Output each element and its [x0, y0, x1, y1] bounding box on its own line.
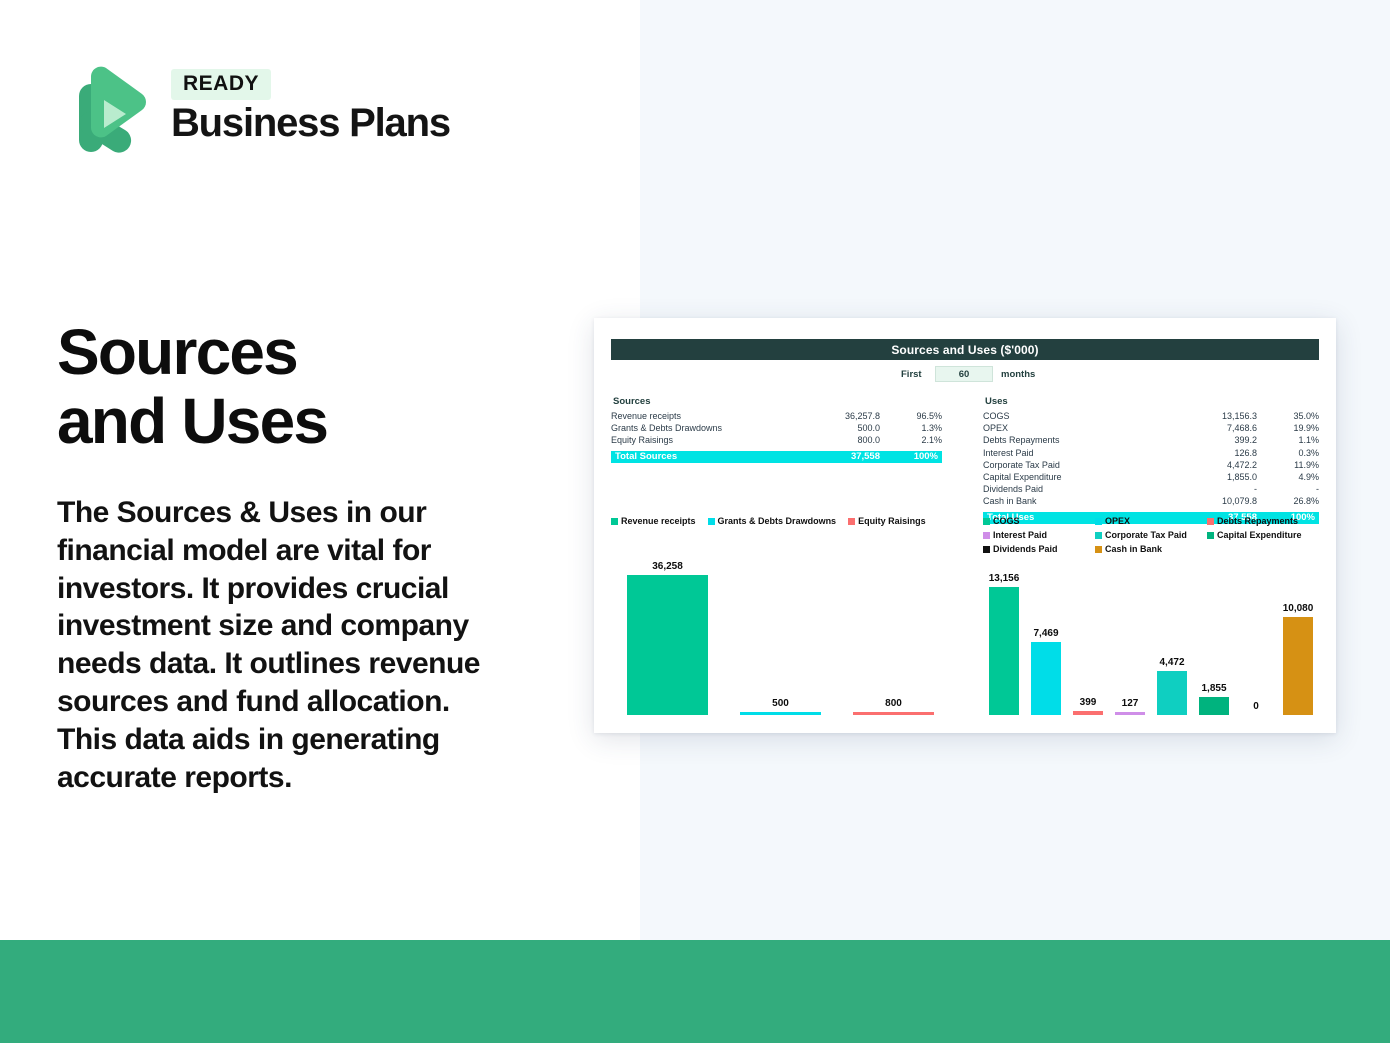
- bar[interactable]: [1283, 617, 1313, 715]
- row-label: COGS: [983, 410, 1171, 422]
- legend-swatch-icon: [1207, 518, 1214, 525]
- bar[interactable]: [1157, 671, 1187, 715]
- table-row: Revenue receipts36,257.896.5%: [611, 410, 942, 422]
- table-row: Equity Raisings800.02.1%: [611, 434, 942, 446]
- legend-item[interactable]: Capital Expenditure: [1207, 530, 1319, 540]
- row-label: Grants & Debts Drawdowns: [611, 422, 794, 434]
- sources-chart-legend: Revenue receiptsGrants & Debts Drawdowns…: [611, 516, 951, 526]
- page-description: The Sources & Uses in our financial mode…: [57, 494, 502, 796]
- row-percent: 0.3%: [1257, 447, 1319, 459]
- row-label: Equity Raisings: [611, 434, 794, 446]
- uses-table: COGS13,156.335.0%OPEX7,468.619.9%Debts R…: [983, 410, 1319, 508]
- row-value: 1,855.0: [1171, 471, 1257, 483]
- row-percent: 19.9%: [1257, 422, 1319, 434]
- bar-column: 127: [1109, 550, 1151, 715]
- total-sources-pct: 100%: [880, 451, 942, 462]
- bar-value-label: 399: [1080, 697, 1097, 708]
- bar[interactable]: [989, 587, 1019, 715]
- table-row: Interest Paid126.80.3%: [983, 447, 1319, 459]
- bar[interactable]: [1199, 697, 1229, 715]
- brand-badge: READY: [171, 69, 271, 100]
- table-row: OPEX7,468.619.9%: [983, 422, 1319, 434]
- bar-column: 399: [1067, 550, 1109, 715]
- sources-table: Revenue receipts36,257.896.5%Grants & De…: [611, 410, 942, 447]
- table-row: Capital Expenditure1,855.04.9%: [983, 471, 1319, 483]
- bar[interactable]: [627, 575, 708, 715]
- bottom-accent-bar: [0, 940, 1390, 1043]
- bar-column: 800: [837, 550, 950, 715]
- bar[interactable]: [1031, 642, 1061, 715]
- row-label: OPEX: [983, 422, 1171, 434]
- legend-item[interactable]: Corporate Tax Paid: [1095, 530, 1207, 540]
- row-label: Cash in Bank: [983, 495, 1171, 507]
- sources-and-uses-report-card: Sources and Uses ($'000) First 60 months…: [594, 318, 1336, 733]
- bar-value-label: 7,469: [1033, 628, 1058, 639]
- row-value: 10,079.8: [1171, 495, 1257, 507]
- legend-label: Corporate Tax Paid: [1105, 530, 1187, 540]
- bar[interactable]: [1073, 711, 1103, 715]
- row-percent: 4.9%: [1257, 471, 1319, 483]
- period-months-input[interactable]: 60: [935, 366, 993, 382]
- legend-swatch-icon: [1095, 518, 1102, 525]
- page-title: Sources and Uses: [57, 318, 327, 456]
- total-sources-label: Total Sources: [611, 451, 794, 462]
- row-label: Capital Expenditure: [983, 471, 1171, 483]
- legend-item[interactable]: Revenue receipts: [611, 516, 696, 526]
- legend-swatch-icon: [983, 518, 990, 525]
- slide-canvas: READY Business Plans Sources and Uses Th…: [0, 0, 1390, 1043]
- uses-chart-legend: COGSOPEXDebts RepaymentsInterest PaidCor…: [983, 516, 1319, 554]
- row-label: Debts Repayments: [983, 434, 1171, 446]
- row-percent: 35.0%: [1257, 410, 1319, 422]
- legend-label: Capital Expenditure: [1217, 530, 1302, 540]
- bar[interactable]: [1115, 712, 1145, 715]
- row-percent: 1.3%: [880, 422, 942, 434]
- legend-label: OPEX: [1105, 516, 1130, 526]
- bar-column: 1,855: [1193, 550, 1235, 715]
- bar-column: 7,469: [1025, 550, 1067, 715]
- play-triangle-logo-icon: [57, 58, 153, 154]
- legend-label: Grants & Debts Drawdowns: [718, 516, 837, 526]
- row-value: 126.8: [1171, 447, 1257, 459]
- bar-value-label: 4,472: [1159, 657, 1184, 668]
- table-row: COGS13,156.335.0%: [983, 410, 1319, 422]
- bar-column: 4,472: [1151, 550, 1193, 715]
- row-value: 36,257.8: [794, 410, 880, 422]
- bar[interactable]: [740, 712, 821, 715]
- legend-item[interactable]: COGS: [983, 516, 1095, 526]
- uses-pane: Uses COGS13,156.335.0%OPEX7,468.619.9%De…: [983, 396, 1319, 524]
- legend-label: Interest Paid: [993, 530, 1047, 540]
- row-label: Revenue receipts: [611, 410, 794, 422]
- legend-item[interactable]: Equity Raisings: [848, 516, 926, 526]
- legend-label: COGS: [993, 516, 1020, 526]
- row-value: -: [1171, 483, 1257, 495]
- row-percent: 96.5%: [880, 410, 942, 422]
- sources-bar-chart: 36,258500800: [611, 550, 951, 715]
- row-label: Corporate Tax Paid: [983, 459, 1171, 471]
- legend-item[interactable]: Interest Paid: [983, 530, 1095, 540]
- legend-swatch-icon: [708, 518, 715, 525]
- legend-item[interactable]: Debts Repayments: [1207, 516, 1319, 526]
- row-percent: 11.9%: [1257, 459, 1319, 471]
- legend-item[interactable]: Grants & Debts Drawdowns: [708, 516, 837, 526]
- period-unit-label: months: [1001, 369, 1035, 380]
- bar-column: 500: [724, 550, 837, 715]
- bar-column: 0: [1235, 550, 1277, 715]
- legend-swatch-icon: [848, 518, 855, 525]
- row-label: Interest Paid: [983, 447, 1171, 459]
- row-value: 7,468.6: [1171, 422, 1257, 434]
- table-row: Cash in Bank10,079.826.8%: [983, 495, 1319, 507]
- table-row: Dividends Paid--: [983, 483, 1319, 495]
- bar-value-label: 127: [1122, 698, 1139, 709]
- report-title-bar: Sources and Uses ($'000): [611, 339, 1319, 360]
- row-value: 500.0: [794, 422, 880, 434]
- row-value: 4,472.2: [1171, 459, 1257, 471]
- row-value: 399.2: [1171, 434, 1257, 446]
- bar-column: 10,080: [1277, 550, 1319, 715]
- bar-value-label: 1,855: [1201, 683, 1226, 694]
- table-row: Grants & Debts Drawdowns500.01.3%: [611, 422, 942, 434]
- row-value: 800.0: [794, 434, 880, 446]
- total-sources-row: Total Sources 37,558 100%: [611, 451, 942, 463]
- table-row: Corporate Tax Paid4,472.211.9%: [983, 459, 1319, 471]
- uses-heading: Uses: [983, 396, 1319, 407]
- period-selector-row: First 60 months: [611, 366, 1319, 383]
- bar-value-label: 13,156: [989, 573, 1020, 584]
- row-percent: 2.1%: [880, 434, 942, 446]
- brand-logo: READY Business Plans: [57, 58, 450, 154]
- bar-column: 36,258: [611, 550, 724, 715]
- legend-swatch-icon: [611, 518, 618, 525]
- bar-column: 13,156: [983, 550, 1025, 715]
- legend-label: Debts Repayments: [1217, 516, 1298, 526]
- brand-name: Business Plans: [171, 102, 450, 144]
- bar-value-label: 0: [1253, 701, 1259, 712]
- table-row: Debts Repayments399.21.1%: [983, 434, 1319, 446]
- row-label: Dividends Paid: [983, 483, 1171, 495]
- uses-bar-chart: 13,1567,4693991274,4721,855010,080: [983, 550, 1319, 715]
- bar-value-label: 500: [772, 698, 789, 709]
- legend-swatch-icon: [983, 532, 990, 539]
- row-percent: 26.8%: [1257, 495, 1319, 507]
- sources-pane: Sources Revenue receipts36,257.896.5%Gra…: [611, 396, 942, 463]
- bar-value-label: 800: [885, 698, 902, 709]
- row-percent: 1.1%: [1257, 434, 1319, 446]
- legend-swatch-icon: [1207, 532, 1214, 539]
- sources-heading: Sources: [611, 396, 942, 407]
- bar-value-label: 36,258: [652, 561, 683, 572]
- period-prefix-label: First: [901, 369, 922, 380]
- legend-swatch-icon: [1095, 532, 1102, 539]
- bar-value-label: 10,080: [1283, 603, 1314, 614]
- legend-label: Equity Raisings: [858, 516, 926, 526]
- row-percent: -: [1257, 483, 1319, 495]
- row-value: 13,156.3: [1171, 410, 1257, 422]
- legend-item[interactable]: OPEX: [1095, 516, 1207, 526]
- total-sources-value: 37,558: [794, 451, 880, 462]
- bar[interactable]: [853, 712, 934, 715]
- legend-label: Revenue receipts: [621, 516, 696, 526]
